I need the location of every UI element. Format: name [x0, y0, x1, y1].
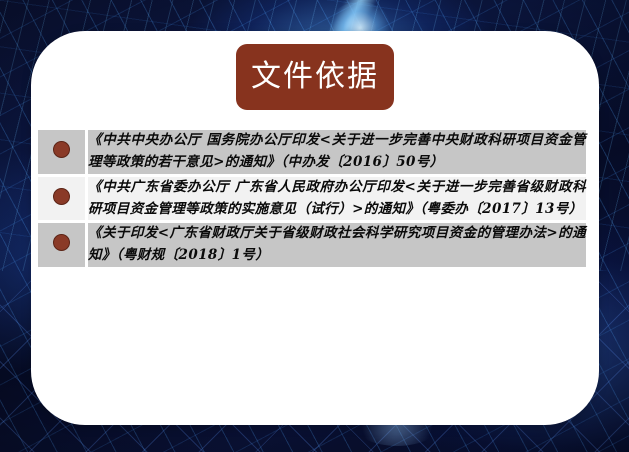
document-basis-table: 《中共中央办公厅 国务院办公厅印发<关于进一步完善中央财政科研项目资金管理等政策…: [38, 130, 586, 267]
bullet-cell: [38, 223, 88, 267]
bullet-dot-icon: [53, 141, 70, 158]
table-row: 《中共中央办公厅 国务院办公厅印发<关于进一步完善中央财政科研项目资金管理等政策…: [38, 130, 586, 177]
document-text-cell: 《中共中央办公厅 国务院办公厅印发<关于进一步完善中央财政科研项目资金管理等政策…: [88, 130, 586, 177]
slide-canvas: 文件依据 《中共中央办公厅 国务院办公厅印发<关于进一步完善中央财政科研项目资金…: [0, 0, 629, 452]
document-text-cell: 《关于印发<广东省财政厅关于省级财政社会科学研究项目资金的管理办法>的通知》（粤…: [88, 223, 586, 267]
document-title-text: 《中共中央办公厅 国务院办公厅印发<关于进一步完善中央财政科研项目资金管理等政策…: [88, 130, 586, 174]
document-title-text: 《中共广东省委办公厅 广东省人民政府办公厅印发<关于进一步完善省级财政科研项目资…: [88, 177, 586, 221]
bullet-dot-icon: [53, 188, 70, 205]
bullet-dot-icon: [53, 234, 70, 251]
document-text-cell: 《中共广东省委办公厅 广东省人民政府办公厅印发<关于进一步完善省级财政科研项目资…: [88, 177, 586, 224]
bullet-cell: [38, 130, 88, 177]
table-row: 《关于印发<广东省财政厅关于省级财政社会科学研究项目资金的管理办法>的通知》（粤…: [38, 223, 586, 267]
slide-title-chip: 文件依据: [236, 44, 394, 110]
page-title: 文件依据: [251, 62, 379, 92]
table-row: 《中共广东省委办公厅 广东省人民政府办公厅印发<关于进一步完善省级财政科研项目资…: [38, 177, 586, 224]
bullet-cell: [38, 177, 88, 224]
document-title-text: 《关于印发<广东省财政厅关于省级财政社会科学研究项目资金的管理办法>的通知》（粤…: [88, 223, 586, 267]
